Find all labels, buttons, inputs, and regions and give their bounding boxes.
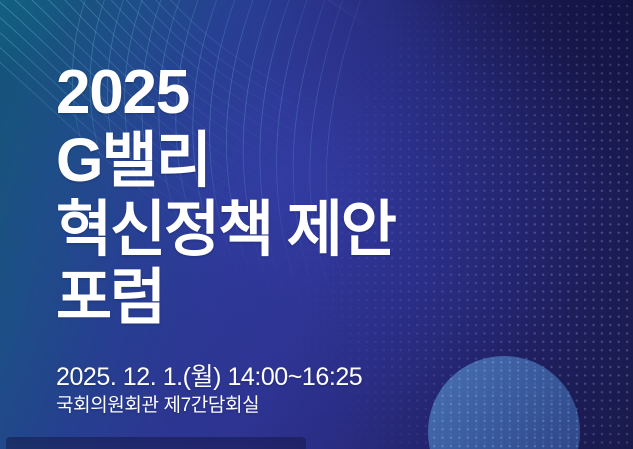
event-datetime: 2025. 12. 1.(월) 14:00~16:25 [56,363,362,391]
headline-line-forum: 포럼 [56,267,395,327]
event-poster: 2025 G밸리 혁신정책 제안 포럼 2025. 12. 1.(월) 14:0… [0,0,633,449]
poster-headline: 2025 G밸리 혁신정책 제안 포럼 [56,62,395,328]
headline-line-brand: G밸리 [56,130,395,190]
headline-line-topic: 혁신정책 제안 [56,199,395,259]
poster-content: 2025 G밸리 혁신정책 제안 포럼 2025. 12. 1.(월) 14:0… [56,0,633,449]
headline-line-year: 2025 [56,62,395,123]
poster-meta: 2025. 12. 1.(월) 14:00~16:25 국회의원회관 제7간담회… [56,363,362,416]
event-venue: 국회의원회관 제7간담회실 [56,395,362,416]
